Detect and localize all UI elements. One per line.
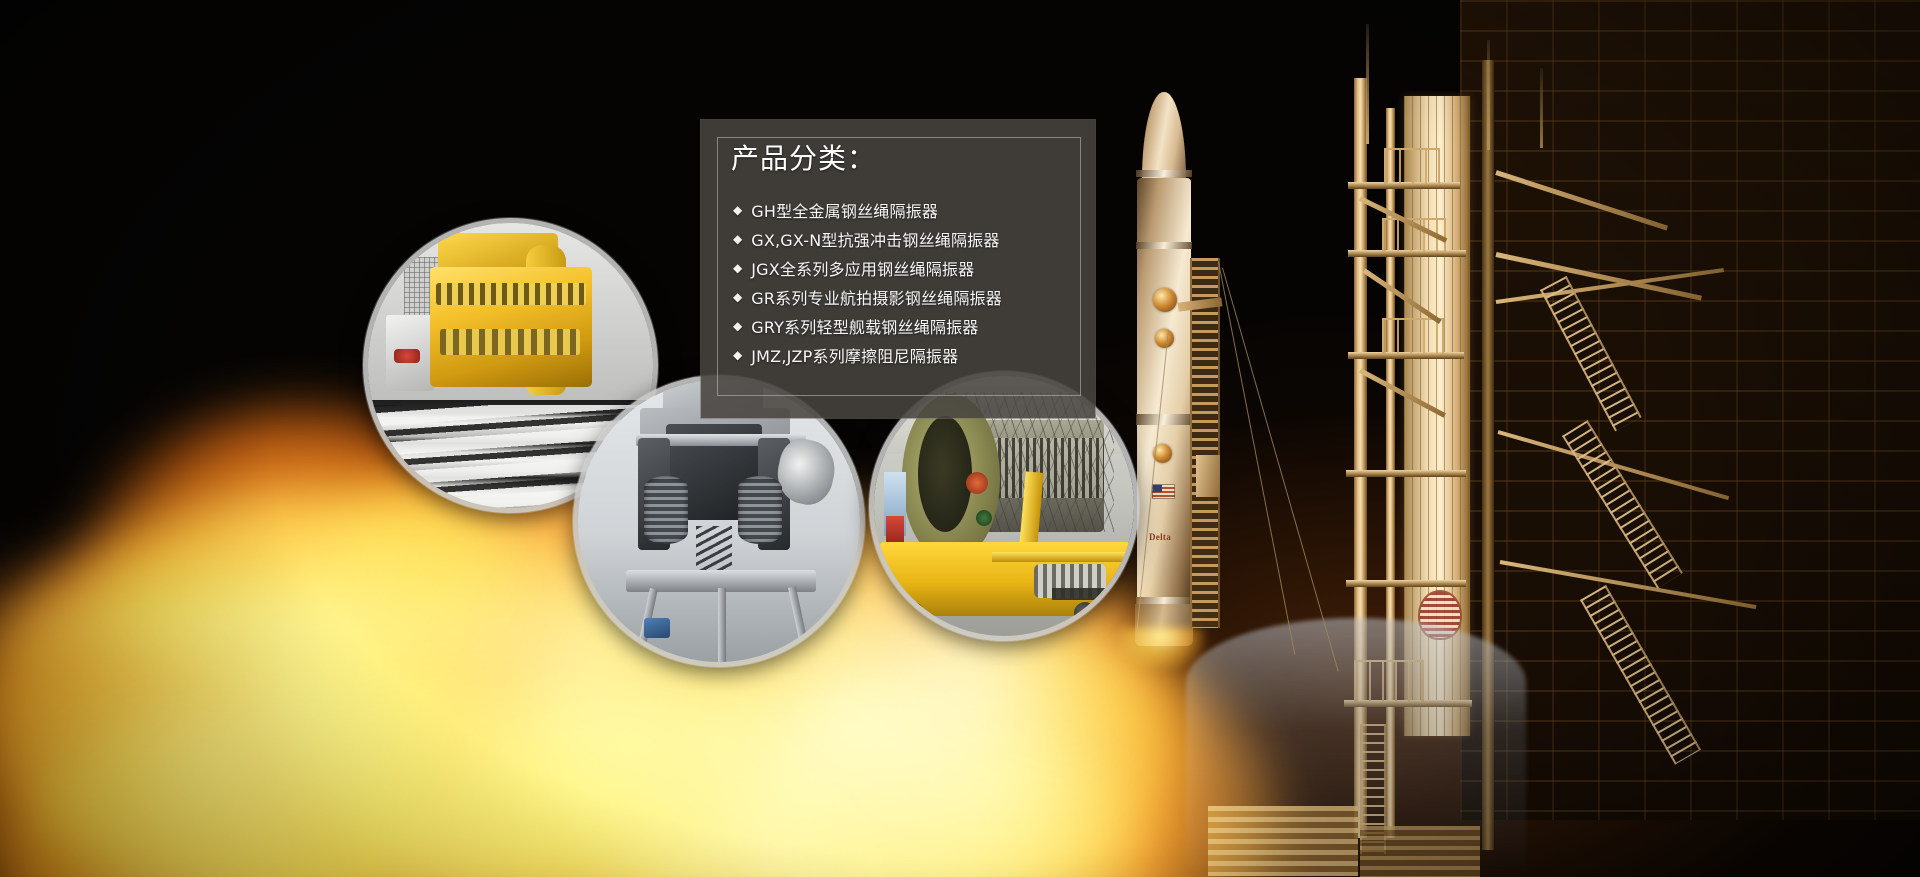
mission-patch-icon <box>1155 329 1174 348</box>
rocket-band <box>1136 242 1192 249</box>
product-category-list: ◆ GH型全金属钢丝绳隔振器 ◆ GX,GX-N型抗强冲击钢丝绳隔振器 ◆ JG… <box>733 195 1077 369</box>
tower-railing <box>1382 318 1444 354</box>
diamond-bullet-icon: ◆ <box>733 204 742 216</box>
wire-rope-isolator-photo <box>573 375 865 667</box>
isolator-scene <box>578 380 860 662</box>
list-item-label: JMZ,JZP系列摩擦阻尼隔振器 <box>751 343 958 367</box>
list-item[interactable]: ◆ JMZ,JZP系列摩擦阻尼隔振器 <box>733 340 1077 369</box>
tower-railing <box>1384 148 1440 184</box>
tower-deck <box>1346 470 1466 477</box>
banner-stage: Delta <box>0 0 1920 877</box>
diamond-bullet-icon: ◆ <box>733 320 742 332</box>
mission-patch-icon <box>1153 288 1177 312</box>
list-item-label: GX,GX-N型抗强冲击钢丝绳隔振器 <box>751 227 999 251</box>
list-item-label: JGX全系列多应用钢丝绳隔振器 <box>751 256 974 280</box>
list-item[interactable]: ◆ GX,GX-N型抗强冲击钢丝绳隔振器 <box>733 224 1077 253</box>
pad-crate <box>1360 826 1480 877</box>
diamond-bullet-icon: ◆ <box>733 233 742 245</box>
wire-rope-coil <box>738 476 782 544</box>
tower-antenna-3 <box>1540 68 1543 148</box>
diamond-bullet-icon: ◆ <box>733 291 742 303</box>
list-item[interactable]: ◆ GR系列专业航拍摄影钢丝绳隔振器 <box>733 282 1077 311</box>
tower-lattice-shadow <box>1460 0 1920 820</box>
tower-deck <box>1346 580 1466 587</box>
list-item-label: GR系列专业航拍摄影钢丝绳隔振器 <box>751 285 1002 309</box>
diamond-bullet-icon: ◆ <box>733 262 742 274</box>
rocket-band <box>1136 170 1192 177</box>
list-item-label: GRY系列轻型舰载钢丝绳隔振器 <box>751 314 978 338</box>
list-item[interactable]: ◆ GH型全金属钢丝绳隔振器 <box>733 195 1077 224</box>
panel-title: 产品分类： <box>731 137 876 177</box>
product-categories-panel: 产品分类： ◆ GH型全金属钢丝绳隔振器 ◆ GX,GX-N型抗强冲击钢丝绳隔振… <box>701 120 1095 418</box>
diamond-bullet-icon: ◆ <box>733 349 742 361</box>
tower-antenna-1 <box>1366 24 1369 144</box>
tower-antenna-2 <box>1487 40 1490 150</box>
list-item[interactable]: ◆ GRY系列轻型舰载钢丝绳隔振器 <box>733 311 1077 340</box>
wire-rope-coil <box>644 476 688 544</box>
list-item[interactable]: ◆ JGX全系列多应用钢丝绳隔振器 <box>733 253 1077 282</box>
list-item-label: GH型全金属钢丝绳隔振器 <box>751 198 938 222</box>
